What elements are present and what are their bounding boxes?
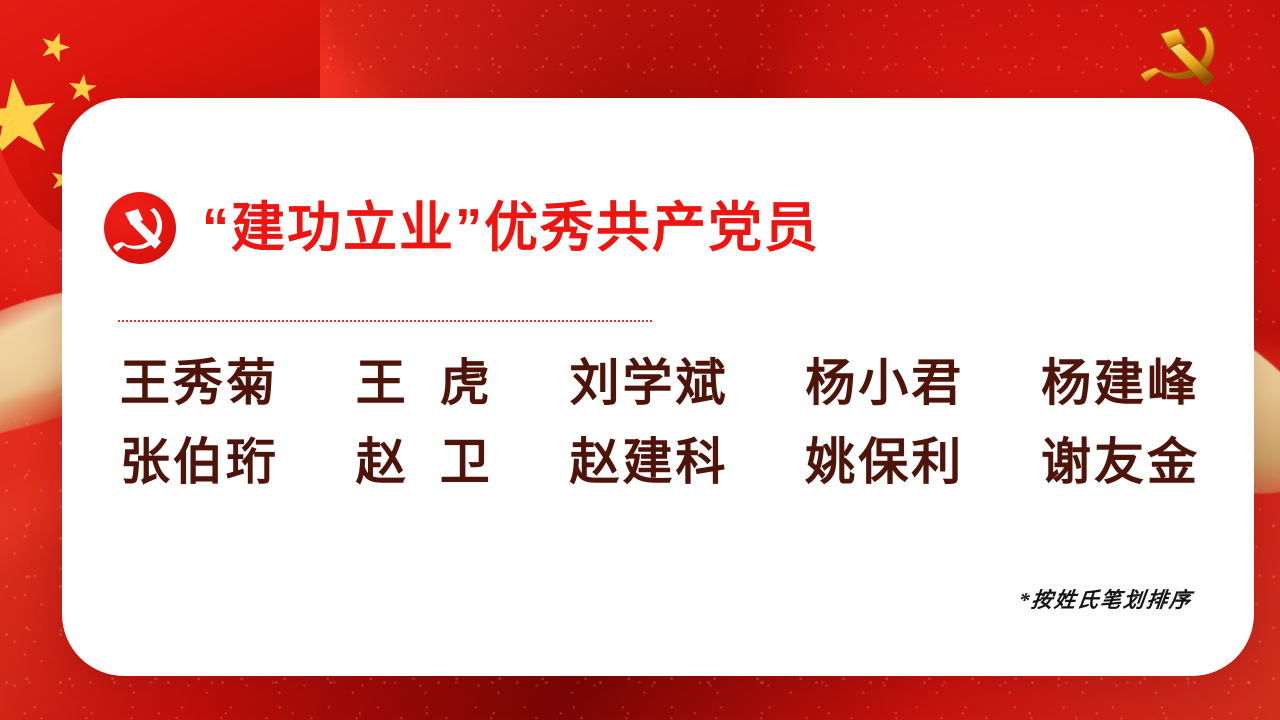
dotted-divider xyxy=(118,320,652,322)
honoree-name: 杨小君 xyxy=(805,350,964,417)
honoree-name: 王秀菊 xyxy=(120,350,279,417)
flag-star-small-1 xyxy=(36,28,74,66)
name-row: 张伯珩 赵 卫 赵建科 姚保利 谢友金 xyxy=(120,429,1200,496)
header-group: “建功立业”优秀共产党员 xyxy=(104,192,820,264)
honoree-name: 赵 卫 xyxy=(356,429,493,496)
hammer-and-sickle-icon xyxy=(104,192,176,264)
honoree-name: 刘学斌 xyxy=(570,350,729,417)
honoree-name: 赵建科 xyxy=(570,429,729,496)
honoree-name-list: 王秀菊 王 虎 刘学斌 杨小君 杨建峰 张伯珩 赵 卫 赵建科 姚保利 谢友金 xyxy=(120,350,1200,508)
flag-star-small-2 xyxy=(67,73,99,105)
sort-order-footnote: *按姓氏笔划排序 xyxy=(1017,584,1194,614)
honoree-name: 张伯珩 xyxy=(120,429,279,496)
honoree-name: 谢友金 xyxy=(1041,429,1200,496)
gold-hammer-sickle-emblem xyxy=(1128,14,1236,100)
honoree-name: 姚保利 xyxy=(805,429,964,496)
name-row: 王秀菊 王 虎 刘学斌 杨小君 杨建峰 xyxy=(120,350,1200,417)
flag-star-large xyxy=(0,74,62,164)
honoree-name: 杨建峰 xyxy=(1041,350,1200,417)
honoree-name: 王 虎 xyxy=(356,350,493,417)
page-title: “建功立业”优秀共产党员 xyxy=(202,201,820,255)
hammer-and-sickle-glyph xyxy=(104,192,176,264)
slide-root: “建功立业”优秀共产党员 王秀菊 王 虎 刘学斌 杨小君 杨建峰 张伯珩 赵 卫… xyxy=(0,0,1280,720)
content-card: “建功立业”优秀共产党员 王秀菊 王 虎 刘学斌 杨小君 杨建峰 张伯珩 赵 卫… xyxy=(62,98,1254,676)
